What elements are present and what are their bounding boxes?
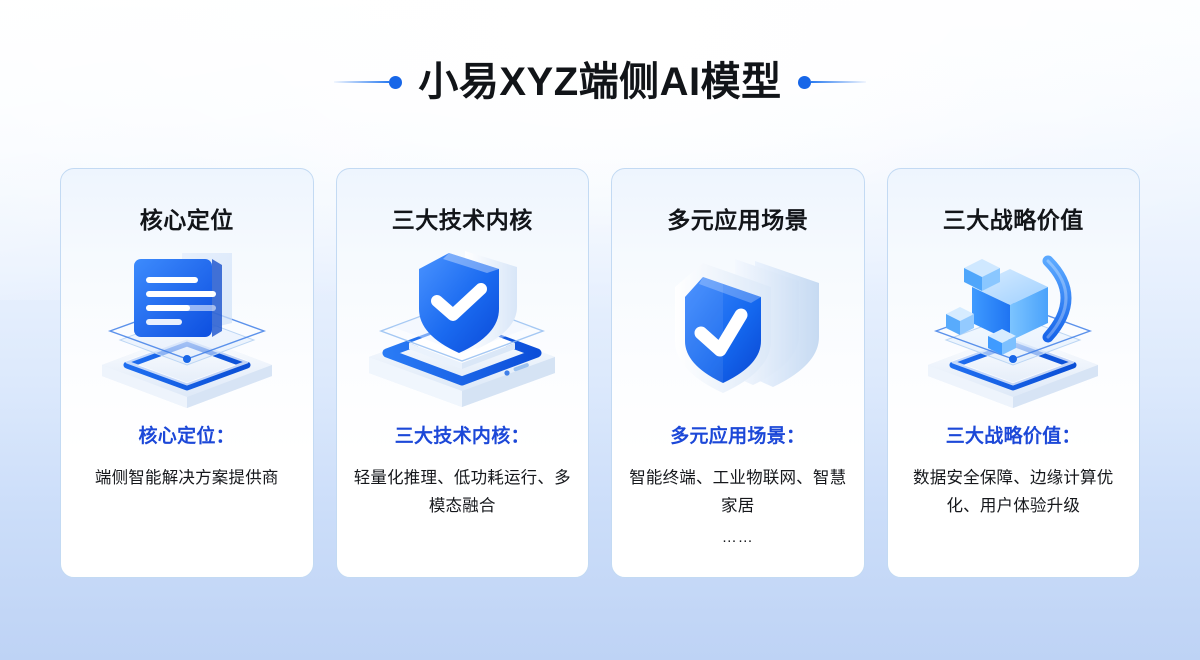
- decor-dot-right-icon: [798, 76, 811, 89]
- page-title: 小易XYZ端侧AI模型: [418, 62, 781, 102]
- card-body: 三大技术内核： 轻量化推理、低功耗运行、多模态融合: [337, 421, 589, 521]
- card-body-label: 三大战略价值：: [946, 421, 1081, 448]
- card-title: 核心定位: [140, 201, 234, 235]
- card-core-positioning[interactable]: 核心定位: [60, 168, 314, 578]
- document-card-icon: [72, 245, 302, 410]
- card-body-text: 轻量化推理、低功耗运行、多模态融合: [351, 464, 573, 521]
- title-decoration-right: [798, 76, 866, 89]
- card-body-text: 智能终端、工业物联网、智慧家居: [627, 464, 849, 521]
- card-body: 核心定位： 端侧智能解决方案提供商: [61, 421, 313, 492]
- cube-network-icon: [898, 245, 1128, 410]
- card-strategic-values[interactable]: 三大战略价值: [887, 168, 1141, 578]
- decor-line-left: [334, 81, 389, 83]
- card-title: 三大技术内核: [392, 201, 533, 235]
- card-body-label: 核心定位：: [138, 421, 235, 448]
- card-body: 三大战略价值： 数据安全保障、边缘计算优化、用户体验升级: [888, 421, 1140, 521]
- title-decoration-left: [334, 76, 402, 89]
- card-body: 多元应用场景： 智能终端、工业物联网、智慧家居 ……: [612, 421, 864, 546]
- card-title: 多元应用场景: [667, 201, 808, 235]
- decor-line-right: [811, 81, 866, 83]
- card-body-text: 端侧智能解决方案提供商: [95, 464, 279, 492]
- decor-dot-left-icon: [389, 76, 402, 89]
- card-body-label: 三大技术内核：: [395, 421, 530, 448]
- stacked-shields-icon: [623, 245, 853, 410]
- card-body-ellipsis: ……: [722, 529, 754, 546]
- page-header: 小易XYZ端侧AI模型: [0, 52, 1200, 112]
- card-three-tech-cores[interactable]: 三大技术内核: [336, 168, 590, 578]
- card-application-scenarios[interactable]: 多元应用场景: [611, 168, 865, 578]
- shield-check-icon: [347, 245, 577, 410]
- card-grid: 核心定位: [60, 168, 1140, 578]
- card-title: 三大战略价值: [943, 201, 1084, 235]
- card-body-label: 多元应用场景：: [670, 421, 805, 448]
- card-body-text: 数据安全保障、边缘计算优化、用户体验升级: [902, 464, 1124, 521]
